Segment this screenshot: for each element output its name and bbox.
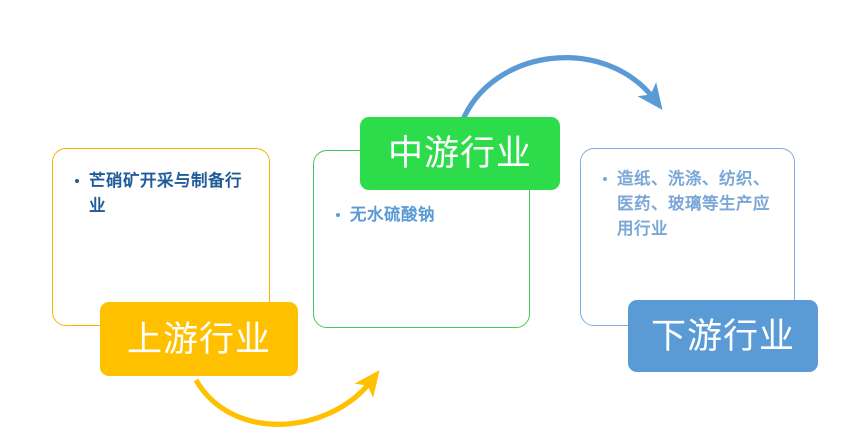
list-item: 芒硝矿开采与制备行业: [75, 169, 253, 219]
arrow-midstream-to-downstream: [462, 58, 655, 122]
upstream-item-list: 芒硝矿开采与制备行业: [53, 149, 269, 219]
downstream-item-list: 造纸、洗涤、纺织、医药、玻璃等生产应用行业: [581, 149, 794, 242]
list-item: 造纸、洗涤、纺织、医药、玻璃等生产应用行业: [603, 167, 780, 242]
arrow-upstream-to-midstream: [196, 380, 372, 424]
list-item: 无水硫酸钠: [336, 203, 513, 228]
badge-upstream[interactable]: 上游行业: [100, 302, 298, 376]
upstream-content-box: 芒硝矿开采与制备行业: [52, 148, 270, 326]
badge-downstream[interactable]: 下游行业: [628, 300, 818, 372]
diagram-canvas: 芒硝矿开采与制备行业 上游行业 无水硫酸钠 中游行业 造纸、洗涤、纺织、医药、玻…: [0, 0, 850, 442]
badge-midstream[interactable]: 中游行业: [360, 117, 560, 190]
